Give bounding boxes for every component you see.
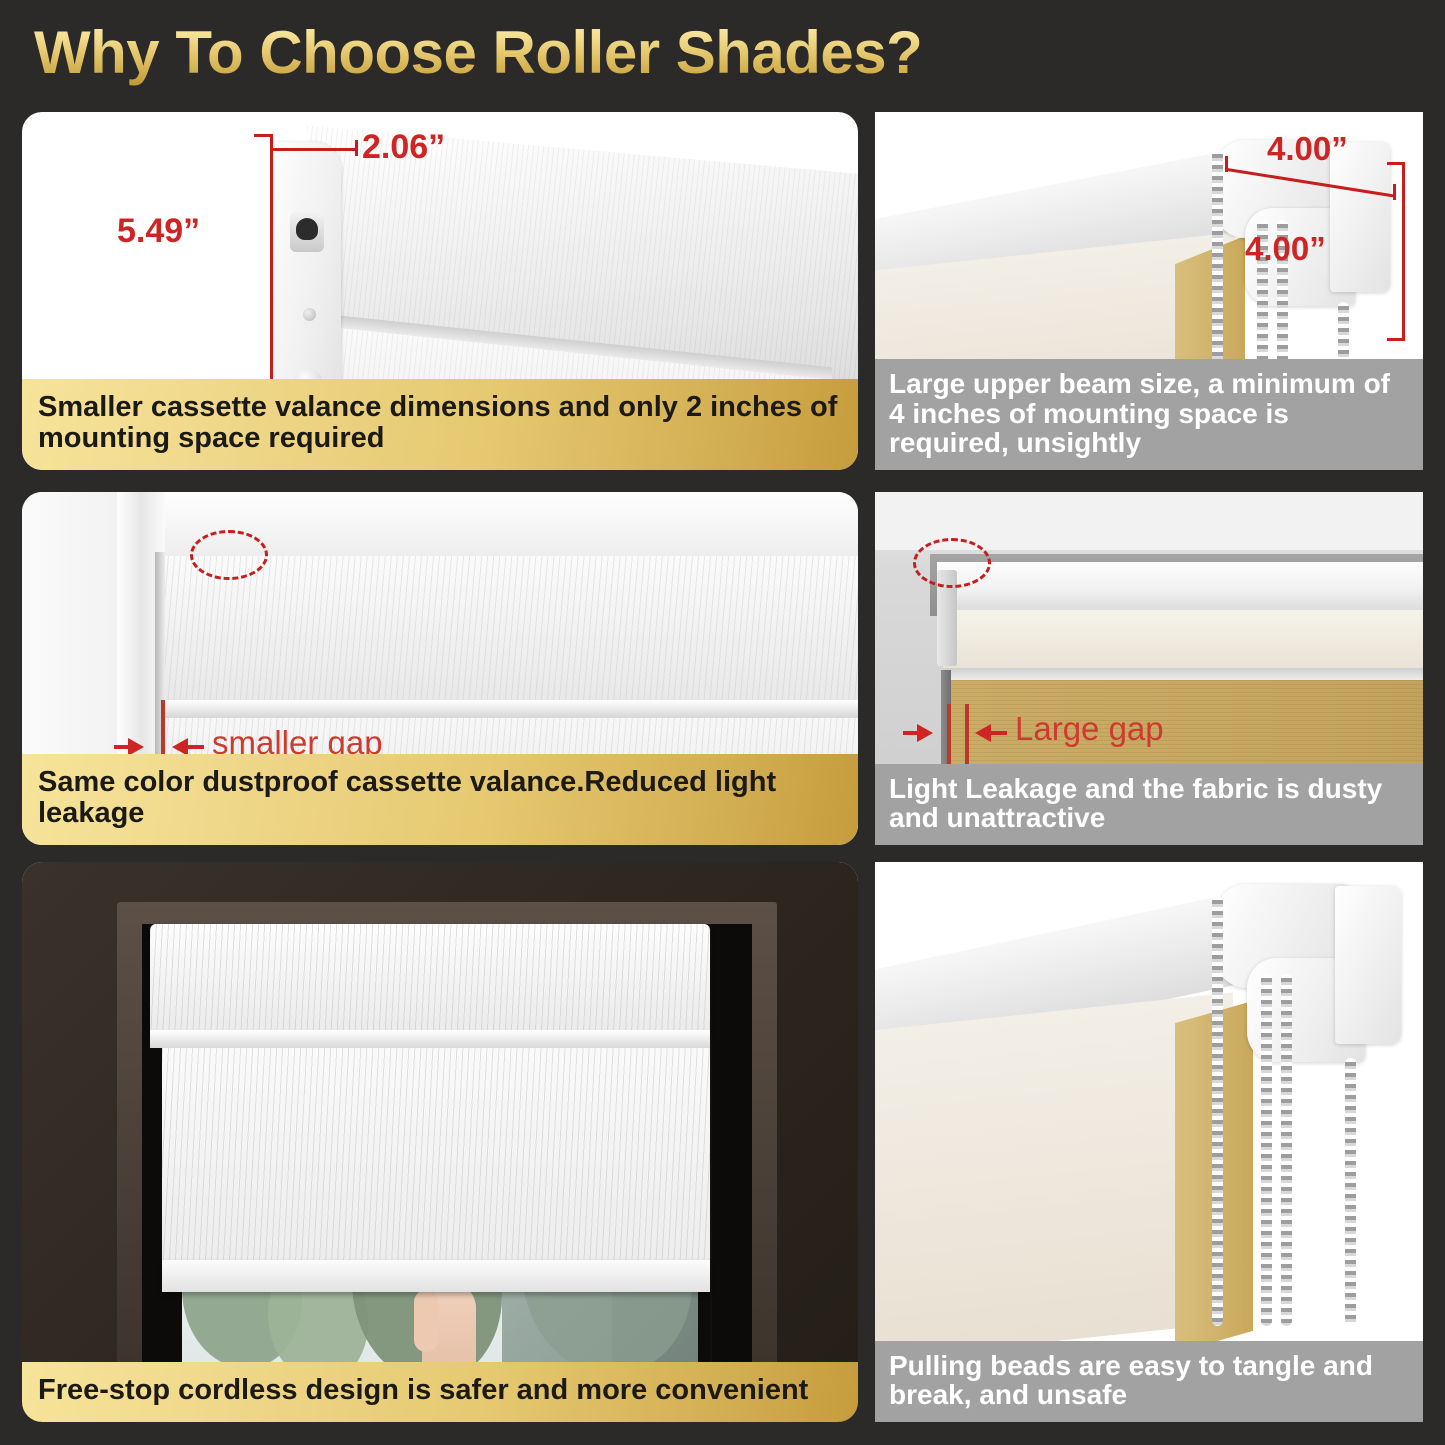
panel-2-caption: Large upper beam size, a minimum of 4 in… xyxy=(875,359,1423,470)
panel-cordless-design: Free-stop cordless design is safer and m… xyxy=(22,862,858,1422)
panel-4-caption: Light Leakage and the fabric is dusty an… xyxy=(875,764,1423,845)
bead-chain xyxy=(1212,896,1223,1326)
dimension-label-width: 4.00” xyxy=(1267,130,1348,168)
arrow-tail xyxy=(903,731,919,735)
arrow-tail xyxy=(188,745,204,749)
panel-pulling-beads: Pulling beads are easy to tangle and bre… xyxy=(875,862,1423,1422)
panel-5-illustration xyxy=(22,862,858,1422)
arrow-right-icon xyxy=(917,724,933,742)
gap-label: Large gap xyxy=(1015,710,1164,748)
dim-cap-left xyxy=(270,134,273,150)
highlight-circle xyxy=(190,530,268,580)
dim-cap-bottom xyxy=(1387,338,1405,341)
panel-dustproof-valance: smaller gap Same color dustproof cassett… xyxy=(22,492,858,845)
highlight-circle xyxy=(913,538,991,588)
dim-cap-top xyxy=(1387,162,1405,165)
panel-3-caption: Same color dustproof cassette valance.Re… xyxy=(22,754,858,845)
panel-large-upper-beam: 4.00” 4.00” Large upper beam size, a min… xyxy=(875,112,1423,470)
panel-light-leakage: Large gap Light Leakage and the fabric i… xyxy=(875,492,1423,845)
dim-line-width xyxy=(270,148,358,151)
bead-chain xyxy=(1281,974,1292,1326)
dimension-label-width: 2.06” xyxy=(362,128,445,167)
panel-5-caption: Free-stop cordless design is safer and m… xyxy=(22,1362,858,1422)
panel-6-illustration xyxy=(875,862,1423,1422)
dim-line-height xyxy=(1402,162,1405,340)
arrow-tail xyxy=(114,745,130,749)
panel-6-caption: Pulling beads are easy to tangle and bre… xyxy=(875,1341,1423,1422)
dimension-label-height: 4.00” xyxy=(1245,230,1326,268)
bead-chain xyxy=(1345,1058,1356,1326)
dim-cap-right xyxy=(1393,184,1396,200)
dimension-label-height: 5.49” xyxy=(117,212,200,251)
dim-cap-left xyxy=(1225,156,1228,172)
dim-cap-right xyxy=(355,140,358,156)
panel-smaller-cassette: 2.06” 5.49” Smaller cassette valance dim… xyxy=(22,112,858,470)
dim-cap-top xyxy=(254,134,272,137)
dim-line-width xyxy=(1227,168,1395,198)
bead-chain xyxy=(1261,974,1272,1326)
arrow-left-icon xyxy=(975,724,991,742)
arrow-tail xyxy=(991,731,1007,735)
page-title: Why To Choose Roller Shades? xyxy=(34,18,922,87)
panel-1-caption: Smaller cassette valance dimensions and … xyxy=(22,379,858,470)
